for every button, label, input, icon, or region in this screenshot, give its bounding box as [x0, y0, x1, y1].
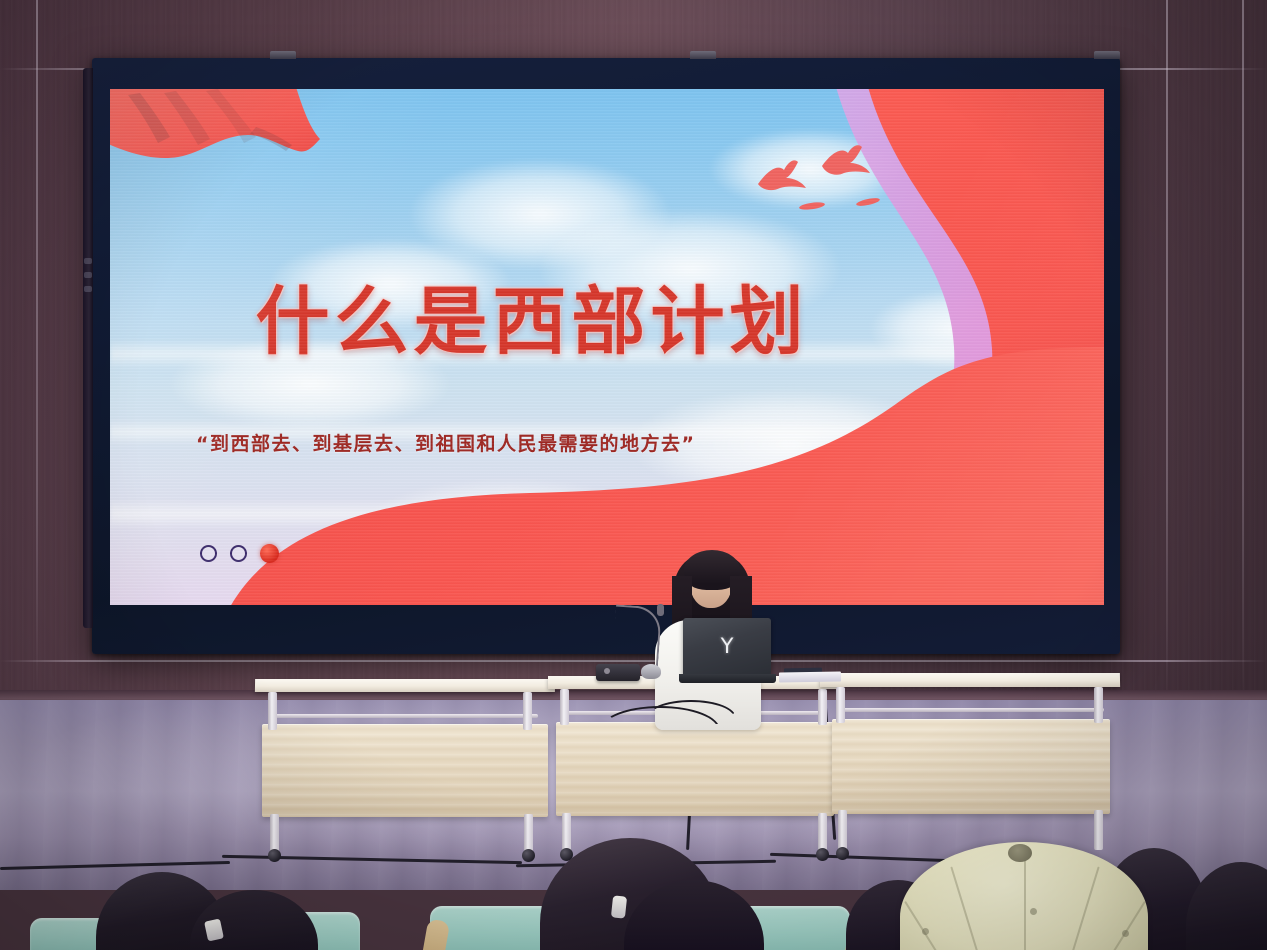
table-left-top [255, 679, 555, 692]
pagination-dot-inactive[interactable] [200, 545, 217, 562]
computer-mouse[interactable] [641, 664, 661, 679]
microphone-base [596, 664, 640, 681]
screen-speaker-vent [84, 286, 92, 292]
cap-top-button [1008, 844, 1032, 862]
table-right-rail [836, 708, 1104, 712]
table-right-modesty-panel [832, 719, 1110, 814]
table-right-leg [1094, 687, 1103, 723]
table-caster [836, 847, 849, 860]
table-right-leg [1094, 810, 1103, 850]
table-center-leg [560, 689, 569, 725]
table-right-leg [836, 687, 845, 723]
cap-seam [1092, 901, 1146, 950]
pagination-dot-inactive[interactable] [230, 545, 247, 562]
wall-mounted-led-screen[interactable]: 什么是西部计划 “到西部去、到基层去、到祖国和人民最需要的地方去” [92, 58, 1120, 654]
cap-seam [904, 901, 958, 950]
red-flag-banner [110, 89, 436, 267]
table-left-leg [524, 814, 533, 852]
flying-birds-decoration [750, 144, 940, 234]
slide-pagination-dots [200, 544, 279, 563]
cap-eyelet [1122, 930, 1129, 937]
lecture-hall-scene: 什么是西部计划 “到西部去、到基层去、到祖国和人民最需要的地方去” [0, 0, 1267, 950]
table-caster [522, 849, 535, 862]
screen-left-side-rail [83, 68, 93, 628]
table-left-leg [523, 692, 532, 730]
table-left-rail [268, 714, 538, 718]
screen-speaker-vent [84, 258, 92, 264]
cap-seam [1024, 848, 1026, 950]
pagination-dot-active[interactable] [260, 544, 279, 563]
cap-seam [951, 867, 990, 950]
notebook-on-desk [779, 671, 841, 682]
table-right-top [820, 673, 1120, 687]
table-center-leg [818, 813, 827, 851]
microphone-capsule [657, 604, 664, 616]
table-caster [816, 848, 829, 861]
screen-speaker-vent [84, 272, 92, 278]
slide-subtitle: “到西部去、到基层去、到祖国和人民最需要的地方去” [196, 429, 695, 456]
cap-eyelet [1030, 908, 1037, 915]
laptop-screen-lid[interactable]: Y [683, 618, 771, 676]
wall-seam-vertical [1166, 0, 1168, 700]
table-right-leg [838, 810, 847, 850]
table-center-modesty-panel [556, 722, 834, 816]
wall-seam-vertical [1242, 0, 1244, 700]
wall-seam-vertical [36, 0, 38, 700]
audience-seat-trim [420, 918, 450, 950]
table-caster [268, 849, 281, 862]
table-left-leg [270, 814, 279, 852]
table-left-leg [268, 692, 277, 730]
microphone-indicator-light [604, 668, 610, 674]
presentation-slide: 什么是西部计划 “到西部去、到基层去、到祖国和人民最需要的地方去” [110, 89, 1104, 605]
cap-seam [1060, 867, 1099, 950]
screen-mount-bracket [1094, 51, 1120, 59]
cap-eyelet [922, 928, 929, 935]
red-sweep-decoration [110, 347, 1104, 605]
screen-mount-bracket [270, 51, 296, 59]
screen-mount-bracket [690, 51, 716, 59]
table-left-modesty-panel [262, 724, 548, 817]
hair-clip [611, 895, 627, 918]
laptop-keyboard-base[interactable] [679, 674, 776, 683]
table-center-leg [562, 813, 571, 851]
laptop-logo-icon: Y [721, 634, 734, 658]
table-center-leg [818, 689, 827, 725]
slide-title: 什么是西部计划 [110, 285, 1104, 359]
